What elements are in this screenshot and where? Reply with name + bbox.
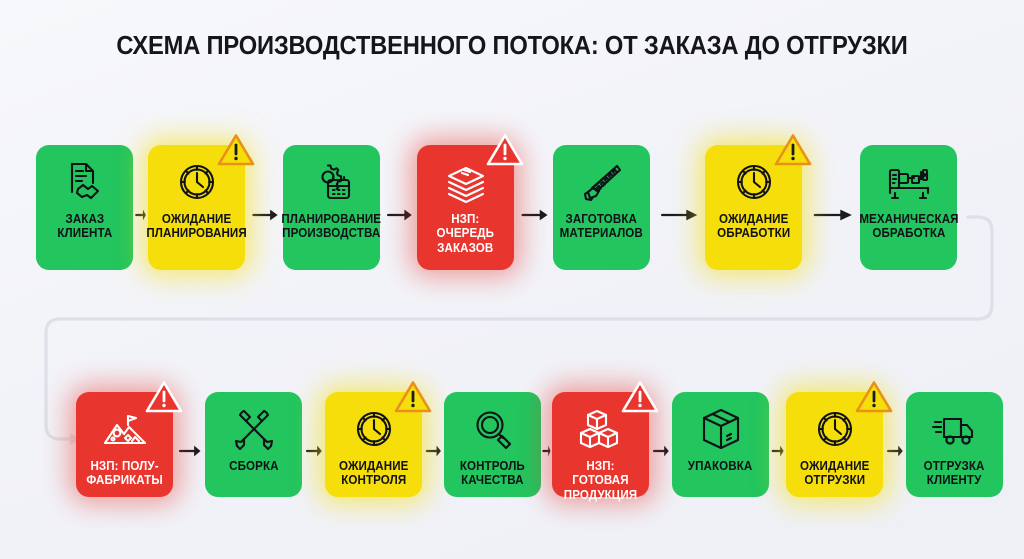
flow-node-assembly[interactable]: СБОРКА [205, 392, 302, 497]
warning-triangle-icon [216, 132, 256, 168]
flow-node-label: МЕХАНИЧЕСКАЯ ОБРАБОТКА [856, 212, 961, 241]
flow-node-label: СБОРКА [226, 459, 281, 473]
warning-triangle-icon [854, 379, 894, 415]
flow-arrow [173, 442, 205, 460]
flow-arrow [302, 442, 325, 460]
gear-calendar-icon [308, 158, 356, 206]
boxes-stack-icon [577, 405, 625, 453]
flow-diagram-canvas: ЗАКАЗ КЛИЕНТАОЖИДАНИЕ ПЛАНИРОВАНИЯ ПЛАНИ… [0, 0, 1024, 559]
parts-pile-icon [101, 405, 149, 453]
flow-arrow [769, 442, 786, 460]
flow-node-wait-machining[interactable]: ОЖИДАНИЕ ОБРАБОТКИ [705, 145, 802, 270]
warning-triangle-icon [144, 379, 184, 415]
flow-arrow [883, 442, 906, 460]
flow-node-order-client[interactable]: ЗАКАЗ КЛИЕНТА [36, 145, 133, 270]
flow-arrow [245, 206, 283, 224]
document-handshake-icon [61, 158, 109, 206]
flow-node-label: КОНТРОЛЬ КАЧЕСТВА [457, 459, 528, 488]
flow-node-material-prep[interactable]: ЗАГОТОВКА МАТЕРИАЛОВ [553, 145, 650, 270]
flow-node-label: НЗП: ГОТОВАЯ ПРОДУКЦИЯ [556, 459, 645, 502]
clock-icon [730, 158, 778, 206]
package-box-icon [697, 405, 745, 453]
flow-node-label: ОТГРУЗКА КЛИЕНТУ [921, 459, 987, 488]
flow-node-label: ЗАГОТОВКА МАТЕРИАЛОВ [557, 212, 646, 241]
flow-node-wait-shipping[interactable]: ОЖИДАНИЕ ОТГРУЗКИ [786, 392, 883, 497]
warning-triangle-icon [620, 379, 660, 415]
flow-node-label: ОЖИДАНИЕ ОБРАБОТКИ [714, 212, 793, 241]
delivery-truck-icon [931, 405, 979, 453]
flow-node-wip-order-queue[interactable]: НЗП: ОЧЕРЕДЬ ЗАКАЗОВ [417, 145, 514, 270]
flow-node-ship-to-client[interactable]: ОТГРУЗКА КЛИЕНТУ [906, 392, 1003, 497]
flow-arrow [650, 206, 705, 224]
flow-node-label: УПАКОВКА [685, 459, 755, 473]
clock-icon [811, 405, 859, 453]
flow-node-production-planning[interactable]: ПЛАНИРОВАНИЕ ПРОИЗВОДСТВА [283, 145, 380, 270]
wrench-screwdriver-icon [230, 405, 278, 453]
flow-node-label: ЗАКАЗ КЛИЕНТА [54, 212, 115, 241]
flow-arrow [380, 206, 417, 224]
flow-node-packaging[interactable]: УПАКОВКА [672, 392, 769, 497]
flow-node-label: ПЛАНИРОВАНИЕ ПРОИЗВОДСТВА [279, 212, 384, 241]
flow-node-wait-inspection[interactable]: ОЖИДАНИЕ КОНТРОЛЯ [325, 392, 422, 497]
flow-node-wip-finished[interactable]: НЗП: ГОТОВАЯ ПРОДУКЦИЯ [552, 392, 649, 497]
flow-arrow [802, 206, 860, 224]
flow-arrow [649, 442, 672, 460]
flow-node-label: НЗП: ПОЛУ- ФАБРИКАТЫ [84, 459, 166, 488]
flow-node-machining[interactable]: МЕХАНИЧЕСКАЯ ОБРАБОТКА [860, 145, 957, 270]
flow-node-quality-control[interactable]: КОНТРОЛЬ КАЧЕСТВА [444, 392, 541, 497]
flow-node-wait-planning[interactable]: ОЖИДАНИЕ ПЛАНИРОВАНИЯ [148, 145, 245, 270]
lathe-machine-icon [885, 158, 933, 206]
warning-triangle-icon [485, 132, 525, 168]
document-stack-icon [442, 158, 490, 206]
clock-icon [350, 405, 398, 453]
magnifier-icon [469, 405, 517, 453]
handsaw-icon [578, 158, 626, 206]
warning-triangle-icon [393, 379, 433, 415]
flow-node-label: НЗП: ОЧЕРЕДЬ ЗАКАЗОВ [434, 212, 497, 255]
flow-node-wip-semifinished[interactable]: НЗП: ПОЛУ- ФАБРИКАТЫ [76, 392, 173, 497]
flow-arrow [422, 442, 444, 460]
warning-triangle-icon [773, 132, 813, 168]
flow-arrow [541, 442, 552, 460]
flow-node-label: ОЖИДАНИЕ ПЛАНИРОВАНИЯ [144, 212, 250, 241]
flow-node-label: ОЖИДАНИЕ ОТГРУЗКИ [797, 459, 872, 488]
clock-icon [173, 158, 221, 206]
flow-arrow [514, 206, 553, 224]
flow-node-label: ОЖИДАНИЕ КОНТРОЛЯ [336, 459, 411, 488]
